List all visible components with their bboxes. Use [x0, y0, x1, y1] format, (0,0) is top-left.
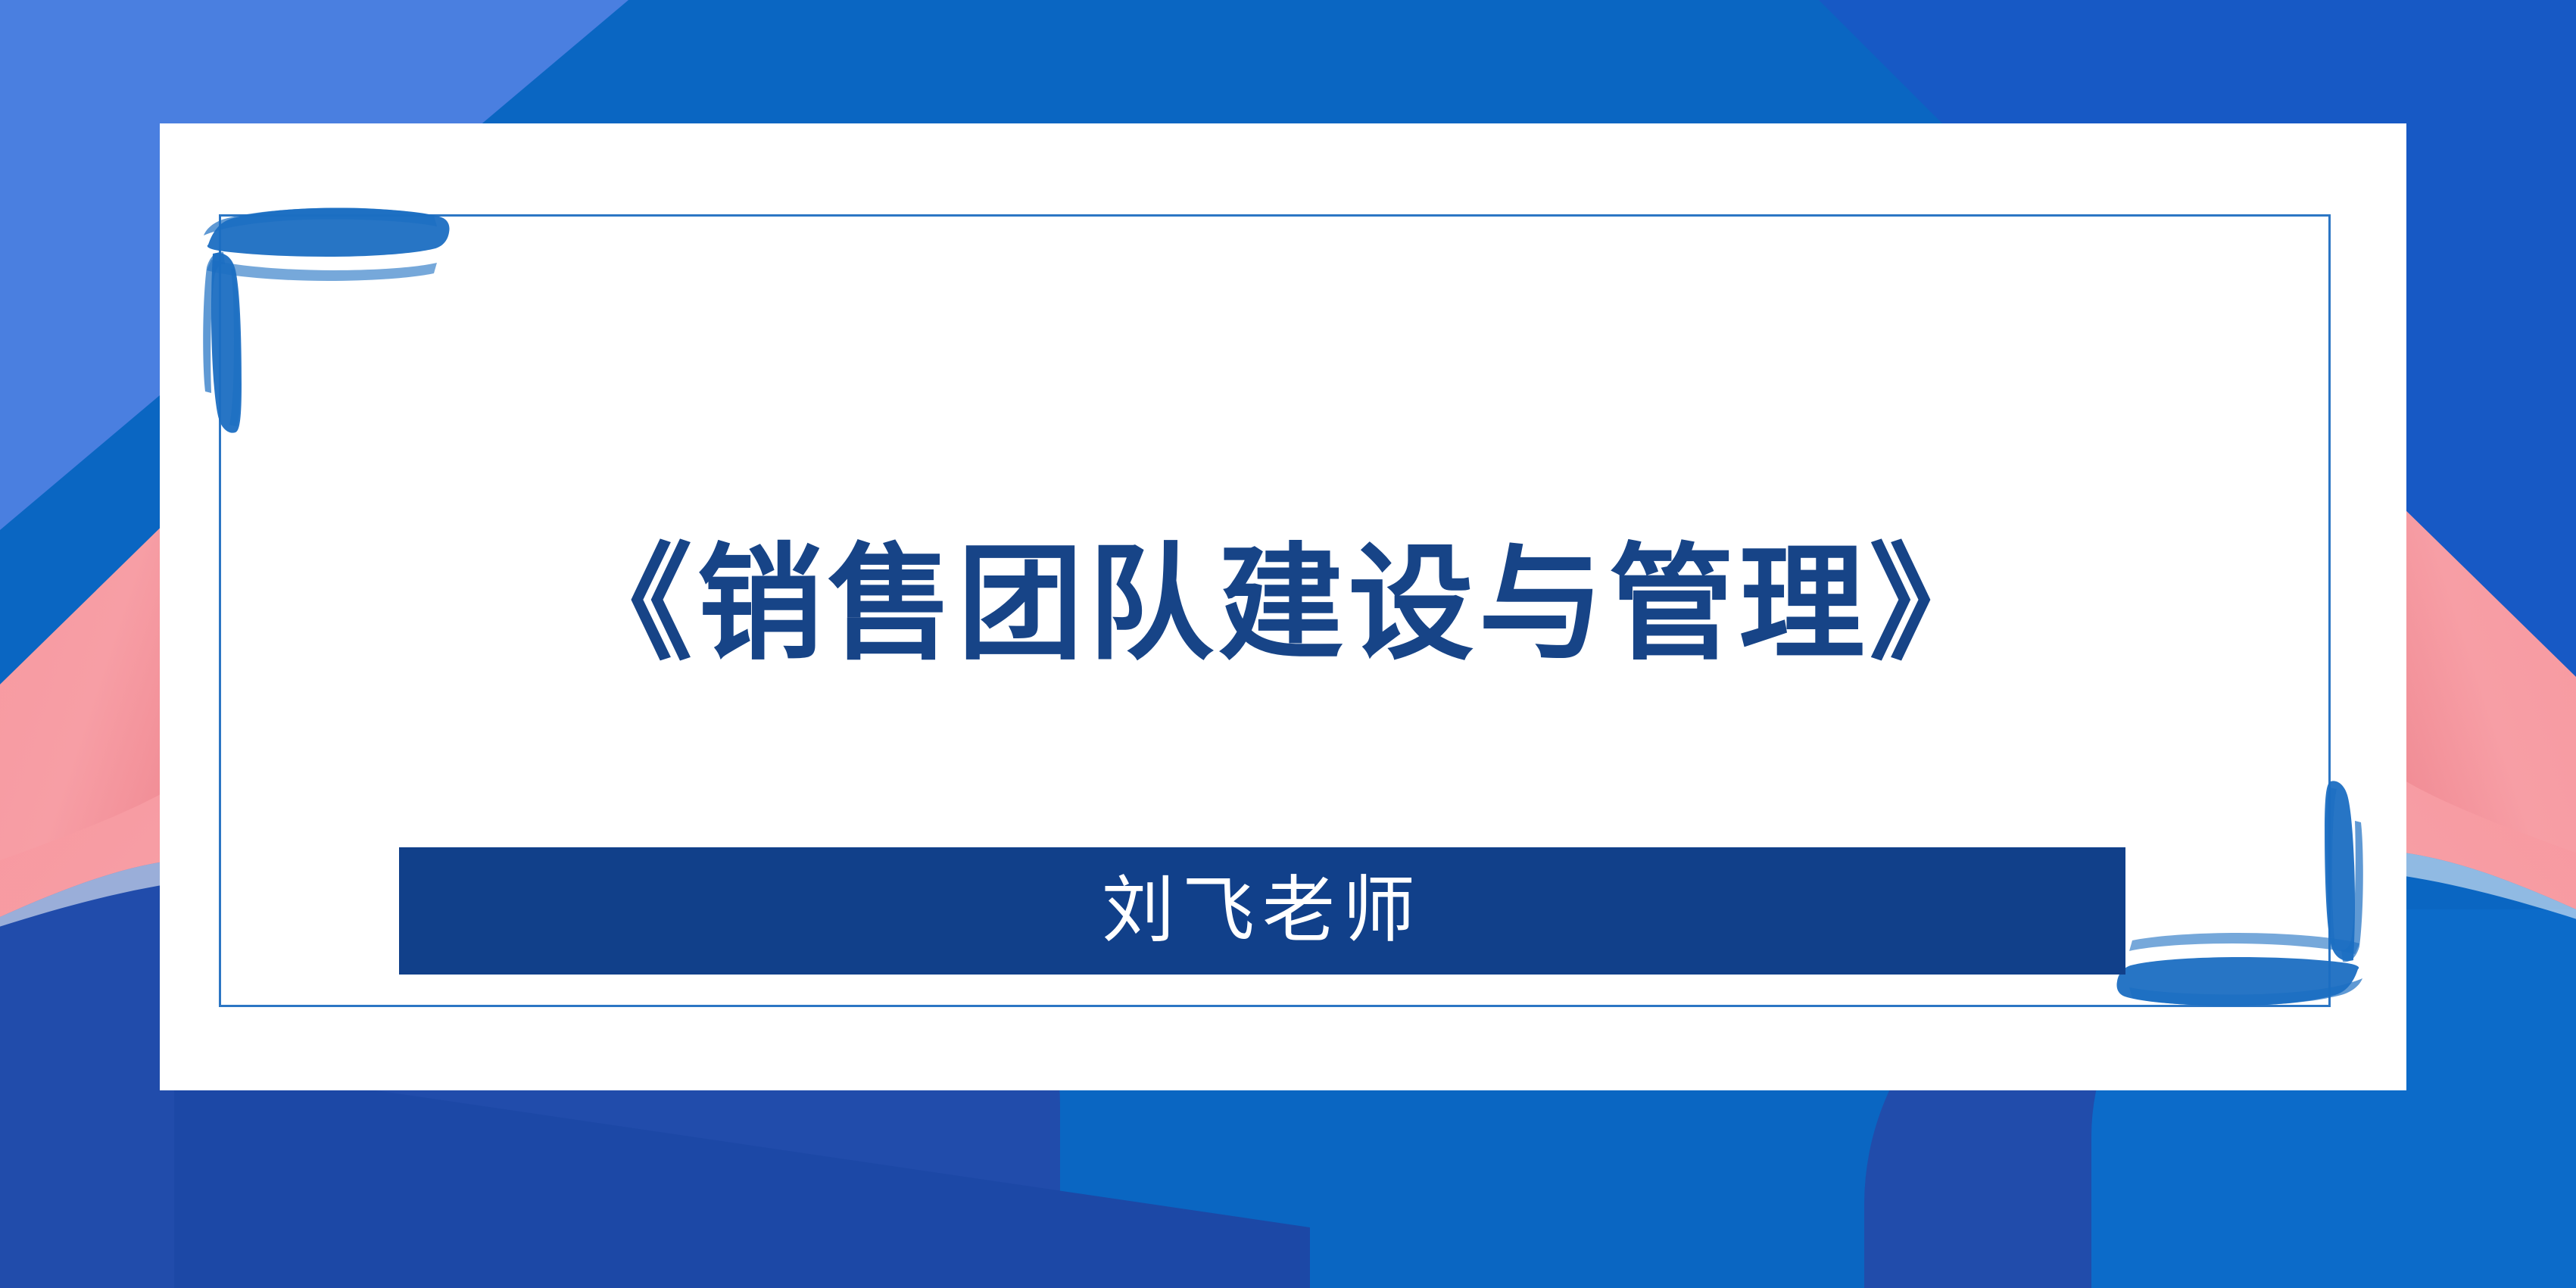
presenter-bar: 刘飞老师: [399, 847, 2125, 975]
presenter-name: 刘飞老师: [1102, 875, 1423, 947]
slide-title: 《销售团队建设与管理》: [160, 536, 2406, 675]
content-card: 《销售团队建设与管理》 刘飞老师: [160, 123, 2406, 1090]
presentation-slide: 《销售团队建设与管理》 刘飞老师: [0, 0, 2576, 1288]
